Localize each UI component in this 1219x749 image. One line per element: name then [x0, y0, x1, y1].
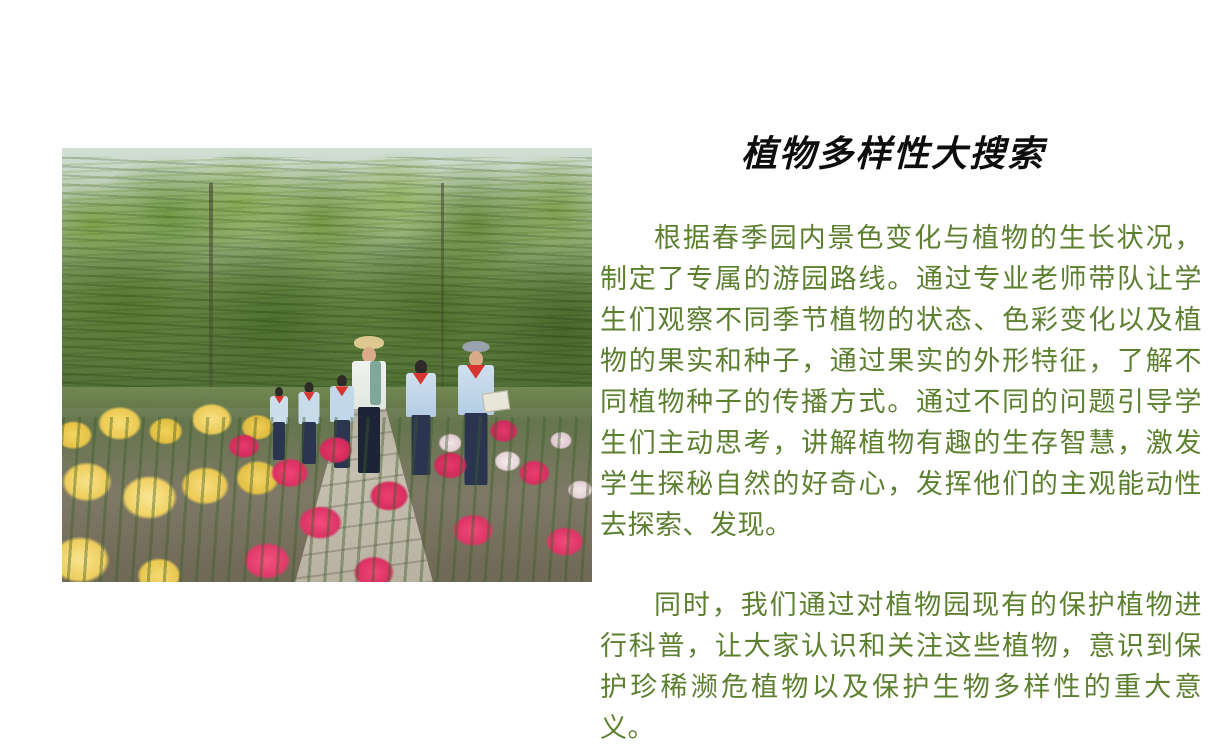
garden-photo: [62, 148, 592, 582]
slide-root: 植物多样性大搜索 根据春季园内景色变化与植物的生长状况，制定了专属的游园路线。通…: [0, 0, 1219, 594]
photo-canvas: [62, 148, 592, 582]
photo-tulip-foliage: [62, 417, 592, 582]
body-paragraph-2: 同时，我们通过对植物园现有的保护植物进行科普，让大家认识和关注这些植物，意识到保…: [600, 585, 1202, 749]
text-column: 植物多样性大搜索 根据春季园内景色变化与植物的生长状况，制定了专属的游园路线。通…: [600, 132, 1202, 749]
body-paragraph-1: 根据春季园内景色变化与植物的生长状况，制定了专属的游园路线。通过专业老师带队让学…: [600, 218, 1202, 546]
photo-student-head-2: [415, 360, 427, 374]
photo-teacher-green-scarf: [370, 361, 381, 405]
page-title: 植物多样性大搜索: [600, 132, 1202, 176]
